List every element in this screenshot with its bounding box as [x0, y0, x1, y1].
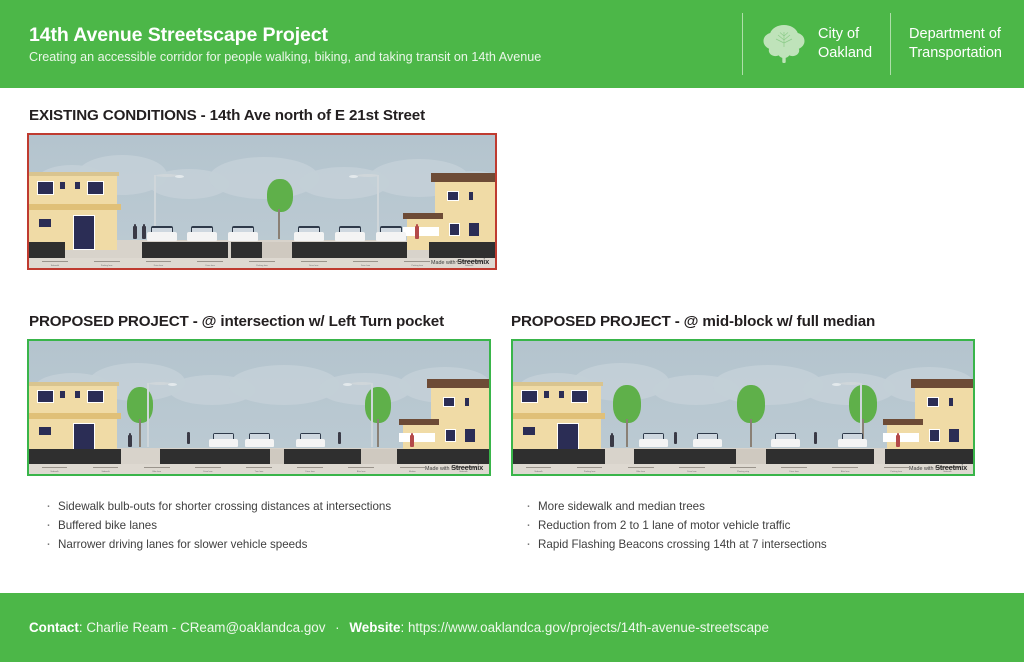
pedestrian — [609, 433, 615, 449]
page-title: 14th Avenue Streetscape Project — [29, 23, 724, 47]
segment-width-mark — [730, 467, 756, 468]
pedestrian — [895, 433, 901, 449]
existing-conditions-title: EXISTING CONDITIONS - 14th Ave north of … — [29, 107, 425, 124]
segment-label: Bike lane — [336, 471, 387, 473]
roadbed-left-edge — [513, 449, 605, 464]
segment-label: Drive lane — [288, 265, 340, 267]
segment-width-mark — [404, 261, 430, 262]
turn-pocket-buffer — [270, 449, 284, 464]
oak-tree-icon — [761, 22, 807, 66]
roadbed-b — [231, 242, 262, 258]
segment-width-mark — [400, 467, 426, 468]
bicyclist — [184, 432, 193, 448]
segment-width-mark — [679, 467, 705, 468]
header-branding: City of Oakland Department of Transporta… — [724, 13, 1024, 75]
car — [228, 226, 258, 241]
attribution-brand: Streetmix — [451, 463, 483, 472]
roadbed-a — [634, 449, 736, 464]
segment-width-mark — [301, 261, 327, 262]
streetmix-attribution: Made with Streetmix — [431, 257, 489, 266]
page-subtitle: Creating an accessible corridor for peop… — [29, 50, 724, 65]
segment-width-mark — [94, 261, 120, 262]
segment-width-mark — [628, 467, 654, 468]
segment-width-mark — [144, 467, 170, 468]
contact-label: Contact — [29, 620, 79, 635]
website-value[interactable]: https://www.oaklandca.gov/projects/14th-… — [408, 620, 769, 635]
proposed-right-street-diagram: SidewalkParking laneBike laneDrive laneP… — [511, 339, 975, 476]
proposed-left-benefits-list: Sidewalk bulb-outs for shorter crossing … — [44, 501, 391, 558]
list-item: Narrower driving lanes for slower vehicl… — [44, 539, 391, 551]
proposed-right-benefits-list: More sidewalk and median trees Reduction… — [524, 501, 827, 558]
segment-label-bar: SidewalkParking laneDrive laneDrive lane… — [29, 258, 495, 268]
segment-label: Sidewalk — [80, 471, 131, 473]
segment-label-bar: SidewalkParking laneBike laneDrive laneP… — [513, 464, 973, 474]
segment-label: Parking lane — [81, 265, 133, 267]
header-text-block: 14th Avenue Streetscape Project Creating… — [0, 23, 724, 65]
list-item: Reduction from 2 to 1 lane of motor vehi… — [524, 520, 827, 532]
footer-separator: · — [329, 620, 345, 635]
segment-label: Parking lane — [564, 471, 615, 473]
list-item: Sidewalk bulb-outs for shorter crossing … — [44, 501, 391, 513]
pedestrian — [127, 433, 133, 449]
segment-label: Sidewalk — [29, 265, 81, 267]
streetmix-attribution: Made with Streetmix — [909, 463, 967, 472]
poster-body: EXISTING CONDITIONS - 14th Ave north of … — [0, 88, 1024, 593]
city-of-oakland-logo: City of Oakland — [761, 13, 872, 75]
roadbed-right-edge — [885, 449, 975, 464]
page-footer: Contact: Charlie Ream - CReam@oaklandca.… — [0, 593, 1024, 662]
list-item: Buffered bike lanes — [44, 520, 391, 532]
roadbed-right-edge — [397, 449, 491, 464]
segment-width-mark — [42, 467, 68, 468]
segment-width-mark — [197, 261, 223, 262]
proposed-left-title: PROPOSED PROJECT - @ intersection w/ Lef… — [29, 313, 444, 330]
segment-label: Parking lane — [236, 265, 288, 267]
logo-line-2: Oakland — [818, 45, 872, 61]
roadbed-b — [284, 449, 361, 464]
segment-label: Drive lane — [769, 471, 820, 473]
pedestrian — [409, 433, 415, 449]
list-item: Rapid Flashing Beacons crossing 14th at … — [524, 539, 827, 551]
segment-label: Bike lane — [131, 471, 182, 473]
contact-value[interactable]: Charlie Ream - CReam@oaklandca.gov — [86, 620, 325, 635]
car — [771, 433, 800, 447]
proposed-right-title: PROPOSED PROJECT - @ mid-block w/ full m… — [511, 313, 875, 330]
roadbed-b — [766, 449, 874, 464]
car — [294, 226, 324, 241]
segment-width-mark — [146, 261, 172, 262]
bicyclist — [811, 432, 820, 448]
segment-width-mark — [297, 467, 323, 468]
footer-contact-line: Contact: Charlie Ream - CReam@oaklandca.… — [0, 620, 769, 635]
segment-label: Drive lane — [340, 265, 392, 267]
car — [376, 226, 406, 241]
segment-label: Drive lane — [184, 265, 236, 267]
pedestrian — [132, 224, 138, 241]
roadbed-left-edge — [29, 449, 121, 464]
segment-width-mark — [42, 261, 68, 262]
attribution-prefix: Made with — [909, 466, 934, 472]
segment-label: Bike lane — [615, 471, 666, 473]
car — [335, 226, 365, 241]
segment-width-mark — [249, 261, 275, 262]
segment-width-mark — [832, 467, 858, 468]
website-label: Website — [349, 620, 400, 635]
bulb-out — [361, 449, 397, 464]
roadbed-a — [142, 242, 228, 258]
existing-conditions-street-diagram: SidewalkParking laneDrive laneDrive lane… — [27, 133, 497, 270]
roadbed-a — [160, 449, 270, 464]
segment-width-mark — [781, 467, 807, 468]
header-divider-2 — [890, 13, 891, 75]
car — [147, 226, 177, 241]
header-divider-1 — [742, 13, 743, 75]
segment-width-mark — [348, 467, 374, 468]
page-header: 14th Avenue Streetscape Project Creating… — [0, 0, 1024, 88]
car — [639, 433, 668, 447]
car — [187, 226, 217, 241]
segment-width-mark — [246, 467, 272, 468]
dept-line-1: Department of — [909, 26, 1001, 42]
car — [296, 433, 325, 447]
roadbed-right-edge — [429, 242, 495, 258]
segment-label: Drive lane — [182, 471, 233, 473]
segment-width-mark — [884, 467, 910, 468]
attribution-brand: Streetmix — [935, 463, 967, 472]
list-item: More sidewalk and median trees — [524, 501, 827, 513]
streetmix-attribution: Made with Streetmix — [425, 463, 483, 472]
city-of-oakland-text: City of Oakland — [818, 25, 872, 62]
proposed-left-street-diagram: SidewalkSidewalkBike laneDrive laneTurn … — [27, 339, 491, 476]
attribution-brand: Streetmix — [457, 257, 489, 266]
roadbed-c — [292, 242, 407, 258]
segment-label: Sidewalk — [513, 471, 564, 473]
car — [245, 433, 274, 447]
segment-width-mark — [353, 261, 379, 262]
bicyclist — [671, 432, 680, 448]
segment-width-mark — [577, 467, 603, 468]
segment-width-mark — [195, 467, 221, 468]
segment-label-bar: SidewalkSidewalkBike laneDrive laneTurn … — [29, 464, 489, 474]
segment-label: Sidewalk — [29, 471, 80, 473]
car — [838, 433, 867, 447]
attribution-prefix: Made with — [431, 260, 456, 266]
car — [209, 433, 238, 447]
segment-label: Drive lane — [285, 471, 336, 473]
segment-width-mark — [93, 467, 119, 468]
logo-line-1: City of — [818, 26, 859, 42]
department-block: Department of Transportation — [909, 13, 1002, 75]
segment-label: Drive lane — [133, 265, 185, 267]
segment-label: Bike lane — [820, 471, 871, 473]
attribution-prefix: Made with — [425, 466, 450, 472]
roadbed-left-edge — [29, 242, 65, 258]
pedestrian — [414, 224, 420, 241]
segment-label: Planting strip — [717, 471, 768, 473]
poster-page: 14th Avenue Streetscape Project Creating… — [0, 0, 1024, 662]
car — [693, 433, 722, 447]
segment-width-mark — [526, 467, 552, 468]
planting-strip — [262, 242, 292, 258]
dept-line-2: Transportation — [909, 45, 1002, 61]
bicyclist — [335, 432, 344, 448]
segment-label: Drive lane — [666, 471, 717, 473]
segment-label: Turn lane — [233, 471, 284, 473]
full-median — [736, 449, 766, 464]
